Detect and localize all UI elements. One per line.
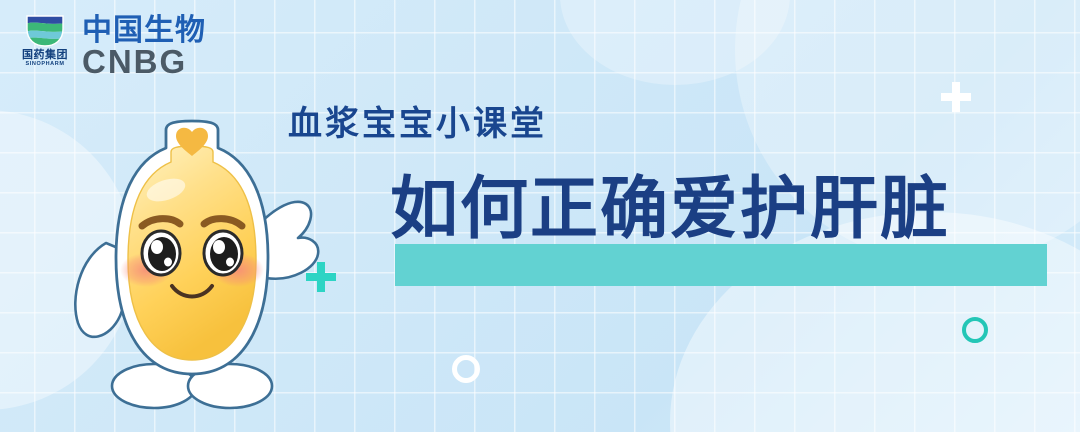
sinopharm-emblem: 国药集团 SINOPHARM	[16, 14, 74, 68]
brand-logo: 国药集团 SINOPHARM 中国生物 CNBG	[16, 14, 206, 78]
mascot-right-eye	[204, 231, 242, 275]
emblem-cn-label: 国药集团	[22, 49, 68, 61]
emblem-en-label: SINOPHARM	[25, 61, 64, 68]
page-title: 如何正确爱护肝脏	[390, 172, 950, 247]
plasma-bag-mascot	[62, 118, 332, 418]
mascot-left-eye	[142, 231, 180, 275]
banner-title-block: 如何正确爱护肝脏	[390, 172, 1050, 292]
brand-cn-name: 中国生物	[82, 16, 206, 47]
health-education-banner: 国药集团 SINOPHARM 中国生物 CNBG	[0, 0, 1080, 432]
ring-white-icon	[452, 355, 480, 383]
bg-circle-mid-top	[560, 0, 790, 85]
brand-en-name: CNBG	[82, 45, 206, 78]
sinopharm-shield-emblem	[24, 14, 66, 48]
title-highlight-bar	[395, 244, 1047, 286]
plus-white-icon	[941, 82, 971, 112]
brand-wordmark: 中国生物 CNBG	[82, 16, 206, 78]
banner-subtitle: 血浆宝宝小课堂	[288, 96, 547, 145]
ring-teal-icon	[962, 317, 988, 343]
